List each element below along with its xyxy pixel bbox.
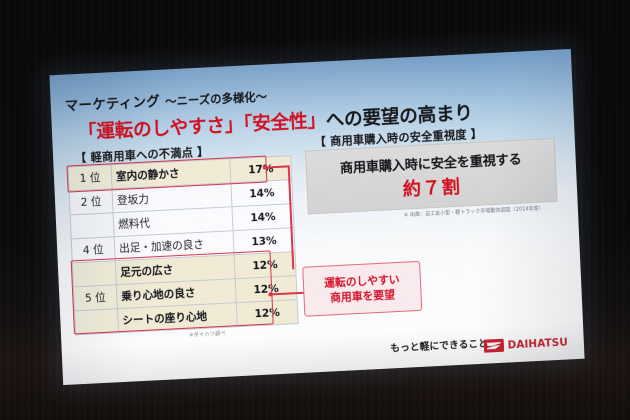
daihatsu-wordmark: DAIHATSU xyxy=(507,336,568,351)
callout-box: 運転のしやすい 商用車を要望 xyxy=(302,261,422,317)
cell-rank: 1 位 xyxy=(68,165,112,191)
cell-percentage: 12% xyxy=(236,300,298,327)
callout-line-2: 商用車を要望 xyxy=(330,289,395,304)
cell-percentage: 17% xyxy=(230,156,292,183)
cell-rank xyxy=(70,213,114,239)
cell-rank: 2 位 xyxy=(69,189,113,215)
headline-quote-safety: 「安全性」 xyxy=(243,110,327,135)
headline-quote-driving: 「運転のしやすさ」 xyxy=(78,115,244,144)
safety-emphasis-panel: 商用車購入時に安全を重視する 約７割 xyxy=(305,138,558,215)
table-source-note: ※ダイハツ調べ xyxy=(189,330,226,339)
dissatisfaction-table: 1 位室内の静かさ17%2 位登坂力14%燃料代14%4 位出足・加速の良さ13… xyxy=(68,155,299,335)
cell-rank xyxy=(74,309,118,335)
slide-content: マーケティング～ニーズの多様化～ 「運転のしやすさ」「安全性」への要望の高まり … xyxy=(49,49,584,385)
cell-percentage: 14% xyxy=(232,204,294,231)
table-body: 1 位室内の静かさ17%2 位登坂力14%燃料代14%4 位出足・加速の良さ13… xyxy=(68,156,298,335)
daihatsu-d-mark-icon xyxy=(483,339,504,353)
cell-rank: 5 位 xyxy=(73,285,117,311)
panel-figure: 約７割 xyxy=(402,172,461,201)
cell-item: シートの座り心地 xyxy=(117,303,237,333)
presentation-slide: マーケティング～ニーズの多様化～ 「運転のしやすさ」「安全性」への要望の高まり … xyxy=(49,49,584,385)
kicker-main: マーケティング xyxy=(65,95,161,115)
kicker-sub: ～ニーズの多様化～ xyxy=(165,89,267,108)
cell-percentage: 13% xyxy=(233,228,295,255)
projection-screen: マーケティング～ニーズの多様化～ 「運転のしやすさ」「安全性」への要望の高まり … xyxy=(49,49,584,385)
brand-tagline: もっと軽にできること。 xyxy=(390,335,498,354)
cell-rank: 4 位 xyxy=(71,237,115,263)
panel-statement: 商用車購入時に安全を重視する xyxy=(339,148,521,176)
cell-percentage: 12% xyxy=(234,252,296,279)
daihatsu-logo: DAIHATSU xyxy=(483,335,568,352)
cell-rank xyxy=(72,261,116,287)
cell-percentage: 14% xyxy=(231,180,293,207)
callout-line-1: 運転のしやすい xyxy=(324,274,400,289)
cell-percentage: 12% xyxy=(235,276,297,303)
